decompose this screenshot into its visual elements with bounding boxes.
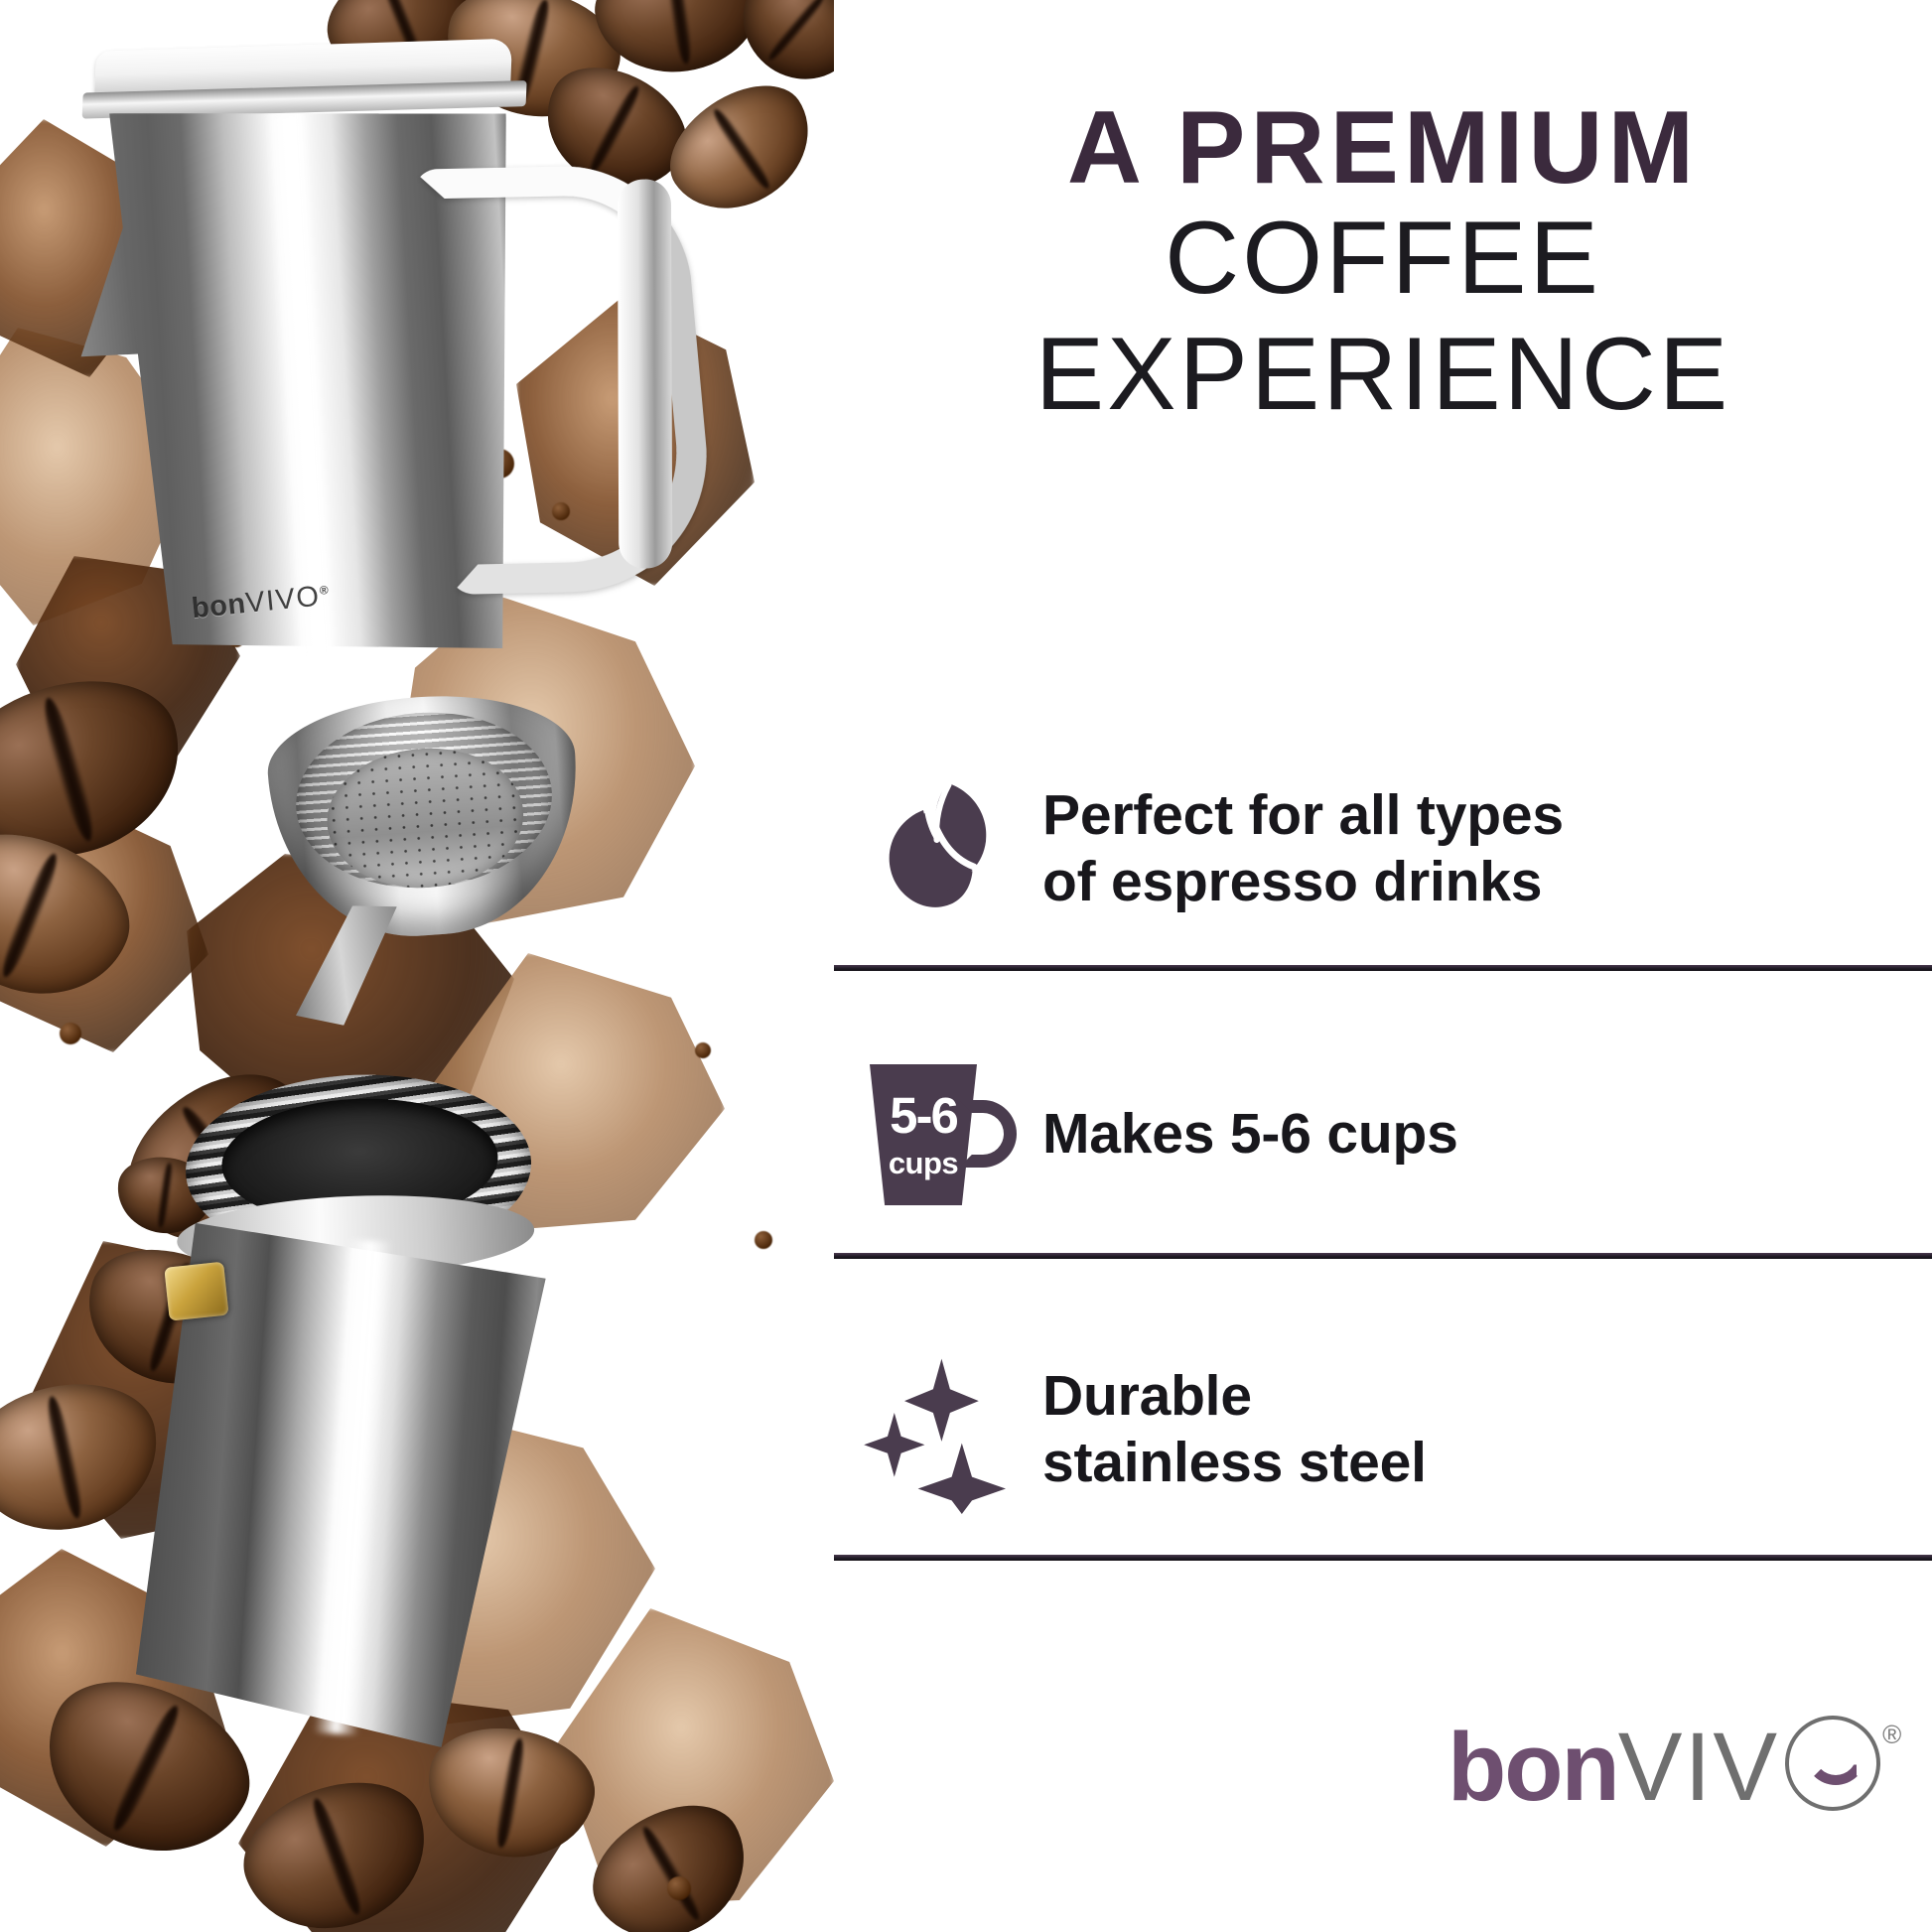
headline-line-1: A PREMIUM	[834, 95, 1932, 201]
logo-text-bon: bon	[1448, 1723, 1618, 1811]
logo-text-vivo: VIV	[1618, 1723, 1779, 1811]
logo-trademark-symbol: ®	[1882, 1716, 1901, 1747]
divider	[834, 965, 1932, 971]
feature-row-espresso-drinks: Perfect for all types of espresso drinks	[834, 755, 1932, 943]
pot-handle	[412, 164, 720, 595]
divider	[834, 1253, 1932, 1259]
feature-text: Durable stainless steel	[1042, 1363, 1427, 1497]
marketing-copy-panel: A PREMIUM COFFEE EXPERIENCE Perfect for …	[834, 0, 1932, 1932]
coffee-droplet	[755, 1231, 772, 1249]
etched-brand-trademark: ®	[319, 583, 330, 598]
cup-count-badge-icon: 5-6 cups	[864, 1060, 1013, 1209]
coffee-bean-icon	[864, 774, 1013, 923]
feature-text-line-1: Makes 5-6 cups	[1042, 1101, 1458, 1168]
page-title: A PREMIUM COFFEE EXPERIENCE	[834, 95, 1932, 432]
badge-unit-label: cups	[874, 1146, 973, 1181]
brand-logo: bon VIV ®	[1448, 1716, 1901, 1811]
etched-brand-vivo: VIVO	[244, 581, 322, 620]
feature-text: Makes 5-6 cups	[1042, 1101, 1458, 1168]
divider	[834, 1555, 1932, 1561]
feature-text-line-2: of espresso drinks	[1042, 849, 1564, 915]
pot-handle-grip	[618, 179, 672, 568]
sparkle-stars-icon	[854, 1345, 1023, 1514]
feature-icon-slot	[834, 774, 1042, 923]
feature-row-cup-capacity: 5-6 cups Makes 5-6 cups	[834, 1040, 1932, 1229]
feature-text-line-2: stainless steel	[1042, 1430, 1427, 1496]
logo-smiley-o-icon	[1785, 1716, 1880, 1811]
coffee-droplet	[667, 1876, 691, 1900]
safety-valve-icon	[164, 1262, 228, 1321]
feature-icon-slot: 5-6 cups	[834, 1060, 1042, 1209]
moka-pot-filter-funnel	[253, 682, 656, 1085]
product-photo-panel: bonVIVO®	[0, 0, 834, 1932]
feature-text: Perfect for all types of espresso drinks	[1042, 782, 1564, 916]
headline-line-3: EXPERIENCE	[834, 317, 1932, 432]
feature-icon-slot	[834, 1345, 1042, 1514]
logo-smile-arc	[1805, 1751, 1866, 1785]
badge-count-label: 5-6	[874, 1086, 973, 1145]
feature-text-line-1: Durable	[1042, 1363, 1427, 1430]
product-marketing-image: bonVIVO® A PREMIUM COFFEE EXPERIENCE	[0, 0, 1932, 1932]
feature-row-stainless-steel: Durable stainless steel	[834, 1330, 1932, 1529]
moka-pot-bottom-boiler	[92, 1053, 698, 1825]
coffee-droplet	[60, 1023, 81, 1044]
headline-line-2: COFFEE	[834, 201, 1932, 316]
coffee-droplet	[695, 1042, 711, 1058]
moka-pot-top-chamber: bonVIVO®	[35, 11, 704, 661]
feature-text-line-1: Perfect for all types	[1042, 782, 1564, 849]
etched-brand-bon: bon	[191, 588, 248, 624]
